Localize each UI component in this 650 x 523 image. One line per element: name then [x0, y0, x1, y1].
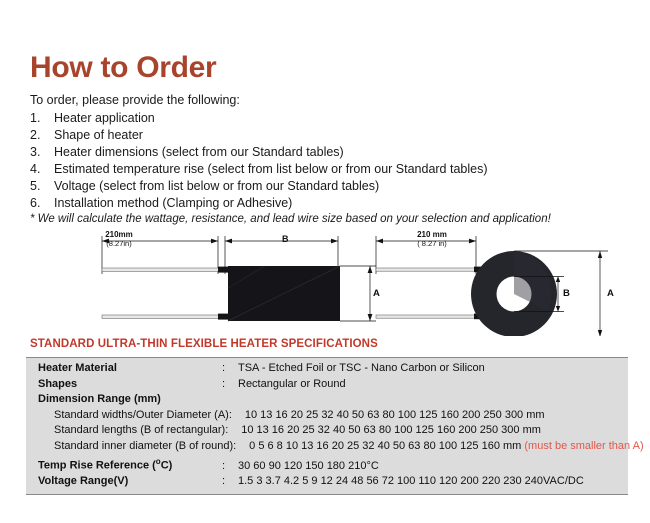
footnote-text: * We will calculate the wattage, resista…	[30, 213, 551, 225]
table-row: Standard inner diameter (B of round) : 0…	[26, 439, 628, 455]
list-item-label: Heater application	[54, 110, 155, 127]
list-item-number: 1.	[30, 110, 54, 127]
round-lead-dimension-label: 210 mm ( 8.27 in)	[388, 230, 476, 248]
table-row: Voltage Range(V) : 1.5 3 3.7 4.2 5 9 12 …	[26, 474, 628, 490]
page-title: How to Order	[30, 51, 216, 85]
table-row: Dimension Range (mm)	[26, 392, 628, 408]
row-colon: :	[222, 459, 238, 475]
list-item-number: 6.	[30, 195, 54, 212]
row-label: Voltage Range(V)	[26, 474, 222, 490]
list-item: 4. Estimated temperature rise (select fr…	[30, 161, 630, 178]
row-label: Heater Material	[26, 361, 222, 377]
heater-diagrams: 210mm (8.27in) B A 210	[0, 228, 650, 336]
list-item: 1. Heater application	[30, 110, 630, 127]
spec-table: Heater Material : TSA - Etched Foil or T…	[26, 357, 628, 495]
list-item: 3. Heater dimensions (select from our St…	[30, 144, 630, 161]
list-item-number: 5.	[30, 178, 54, 195]
row-colon: :	[229, 408, 245, 424]
table-row: Shapes : Rectangular or Round	[26, 377, 628, 393]
order-steps-list: 1. Heater application 2. Shape of heater…	[30, 110, 630, 212]
row-value: TSA - Etched Foil or TSC - Nano Carbon o…	[238, 361, 628, 377]
row-label: Dimension Range (mm)	[26, 392, 222, 408]
list-item-label: Voltage (select from list below or from …	[54, 178, 379, 195]
list-item-label: Estimated temperature rise (select from …	[54, 161, 488, 178]
table-row: Standard lengths (B of rectangular) : 10…	[26, 423, 628, 439]
row-label: Standard inner diameter (B of round)	[26, 439, 233, 455]
list-item-number: 4.	[30, 161, 54, 178]
row-value: 10 13 16 20 25 32 40 50 63 80 100 125 16…	[245, 408, 628, 424]
list-item-number: 2.	[30, 127, 54, 144]
round-inner-diameter-label: B	[563, 288, 570, 299]
round-lead-in: ( 8.27 in)	[388, 239, 476, 248]
list-item-label: Installation method (Clamping or Adhesiv…	[54, 195, 292, 212]
row-colon: :	[222, 377, 238, 393]
list-item: 2. Shape of heater	[30, 127, 630, 144]
row-label: Standard widths/Outer Diameter (A)	[26, 408, 229, 424]
table-row: Temp Rise Reference (oC) : 30 60 90 120 …	[26, 454, 628, 474]
row-value: 30 60 90 120 150 180 210°C	[238, 459, 628, 475]
row-value: 0 5 6 8 10 13 16 20 25 32 40 50 63 80 10…	[249, 440, 524, 452]
round-lead-mm: 210 mm	[388, 230, 476, 239]
row-label: Shapes	[26, 377, 222, 393]
row-colon: :	[222, 474, 238, 490]
list-item-label: Shape of heater	[54, 127, 143, 144]
row-label-prefix: Temp Rise Reference (	[38, 460, 156, 472]
table-row: Heater Material : TSA - Etched Foil or T…	[26, 361, 628, 377]
rect-width-label: B	[282, 234, 289, 244]
spec-section-heading: STANDARD ULTRA-THIN FLEXIBLE HEATER SPEC…	[30, 338, 378, 350]
list-item: 5. Voltage (select from list below or fr…	[30, 178, 630, 195]
row-label: Standard lengths (B of rectangular)	[26, 423, 225, 439]
row-value-note: (must be smaller than A)	[524, 440, 643, 452]
rect-lead-in: (8.27in)	[80, 239, 158, 248]
row-colon: :	[225, 423, 241, 439]
round-outer-diameter-label: A	[607, 288, 614, 299]
row-value: Rectangular or Round	[238, 377, 628, 393]
rect-lead-dimension-label: 210mm (8.27in)	[80, 230, 158, 248]
list-item: 6. Installation method (Clamping or Adhe…	[30, 195, 630, 212]
list-item-label: Heater dimensions (select from our Stand…	[54, 144, 344, 161]
table-row: Standard widths/Outer Diameter (A) : 10 …	[26, 408, 628, 424]
row-label-suffix: C)	[161, 460, 173, 472]
rect-lead-mm: 210mm	[80, 230, 158, 239]
intro-text: To order, please provide the following:	[30, 93, 240, 107]
row-value: 10 13 16 20 25 32 40 50 63 80 100 125 16…	[241, 423, 628, 439]
row-colon: :	[222, 361, 238, 377]
list-item-number: 3.	[30, 144, 54, 161]
row-value: 1.5 3 3.7 4.2 5 9 12 24 48 56 72 100 110…	[238, 474, 628, 490]
row-colon: :	[233, 439, 249, 455]
